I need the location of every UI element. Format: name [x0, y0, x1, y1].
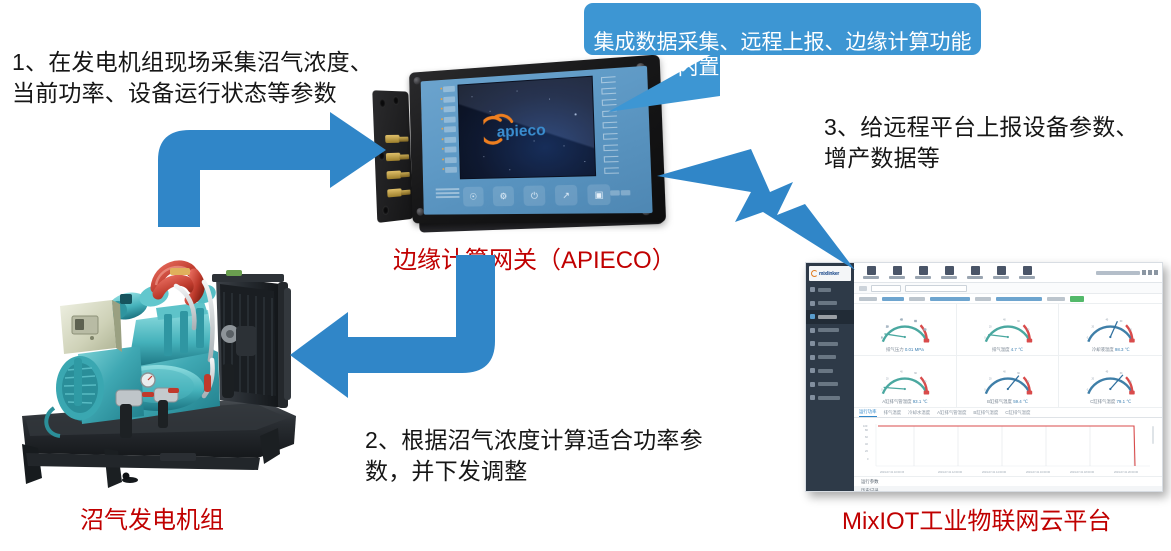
gauge-card[interactable]: 02040 6080100 排气温度 4.7 ℃: [957, 304, 1060, 356]
generator-label: 沼气发电机组: [80, 506, 224, 536]
dashboard-user-area[interactable]: [1096, 270, 1158, 275]
user-icon: [810, 368, 815, 373]
gateway-model-text: [436, 188, 460, 204]
gauge-caption: C缸排气温度 79.1 ℃: [1059, 399, 1162, 405]
sidebar-item-label: [818, 342, 838, 346]
svg-text:2019-07-31 12:00:00: 2019-07-31 12:00:00: [938, 470, 963, 474]
svg-text:2019-07-31 20:00:00: 2019-07-31 20:00:00: [1114, 470, 1139, 474]
run-power-line-chart[interactable]: 02040 6080100 2019-07-31 10:00:15 2019-0…: [854, 418, 1162, 476]
sidebar-item-users[interactable]: [806, 364, 854, 378]
touch-button-network[interactable]: ↗: [555, 185, 578, 206]
tab-cyl-a-temp[interactable]: A缸排气管温度: [937, 410, 966, 418]
table-title-params: 运行参数: [854, 477, 1162, 486]
sidebar-item-label: [818, 382, 838, 386]
dashboard-main: 02040 6080100 排气压力 0.01 MPa: [854, 263, 1162, 491]
svg-text:40: 40: [900, 372, 903, 374]
top-menu-alarmlog[interactable]: [988, 266, 1014, 280]
breadcrumb-root[interactable]: [859, 286, 867, 291]
svg-text:apieco: apieco: [497, 121, 546, 141]
gauge-caption: 排气压力 0.01 MPa: [854, 347, 956, 353]
svg-text:20: 20: [886, 327, 889, 329]
info-label-sn: [975, 297, 991, 301]
svg-text:60: 60: [914, 321, 917, 323]
svg-text:80: 80: [1026, 382, 1029, 384]
sidebar-item-label: [818, 328, 839, 332]
sidebar-item-analytics[interactable]: [806, 324, 854, 338]
group-icon: [810, 301, 815, 306]
svg-text:80: 80: [1130, 382, 1133, 384]
gauge-caption: B缸排气温度 59.4 ℃: [957, 399, 1059, 405]
sidebar-item-home[interactable]: [806, 283, 854, 297]
device-select[interactable]: [905, 285, 967, 292]
touch-button-aux-2[interactable]: [621, 190, 631, 195]
sidebar-item-maintain[interactable]: [806, 351, 854, 365]
info-value-sn: [996, 297, 1042, 301]
status-badge: [1070, 296, 1084, 302]
sidebar-item-groups[interactable]: [806, 297, 854, 311]
dashboard-sidebar: mixlinker: [806, 263, 854, 491]
gauge-card[interactable]: 02040 6080100 A缸排气管温度 93.1 ℃: [854, 356, 957, 408]
gateway-touch-buttons: ☉ ⚙ ⏻ ↗ ▣: [463, 184, 630, 209]
gauge-chart: 02040 6080100: [854, 356, 956, 400]
notification-icon[interactable]: [1142, 270, 1146, 275]
bell-icon: [810, 341, 815, 346]
svg-text:20: 20: [989, 327, 992, 329]
production-icon: [945, 266, 954, 275]
wrench-icon: [810, 355, 815, 360]
device-icon: [810, 314, 815, 319]
account-name: [1096, 271, 1140, 275]
gauge-caption: 排气温度 4.7 ℃: [957, 347, 1059, 353]
svg-text:40: 40: [1106, 372, 1109, 374]
svg-text:20: 20: [1092, 327, 1095, 329]
info-label-status: [1047, 297, 1065, 301]
arrow-field-to-gateway: [148, 112, 388, 227]
svg-text:80: 80: [1026, 330, 1029, 332]
gauge-chart: 02040 6080100: [1059, 304, 1162, 348]
gateway-led-indicators: [439, 86, 459, 180]
line-chart-svg: 02040 6080100 2019-07-31 10:00:15 2019-0…: [854, 418, 1162, 476]
svg-text:40: 40: [1106, 320, 1109, 322]
fullscreen-icon[interactable]: [1148, 270, 1152, 275]
chart-tab-bar: 运行功率 排气温度 冷却水温度 A缸排气管温度 B缸排气温度 C缸排气温度: [854, 408, 1162, 418]
tab-run-power[interactable]: 运行功率: [859, 409, 877, 418]
arrow-gateway-to-generator: [290, 255, 505, 400]
gauge-card[interactable]: 02040 6080100 排气压力 0.01 MPa: [854, 304, 957, 356]
svg-text:40: 40: [865, 442, 868, 446]
tab-coolant-temp[interactable]: 冷却水温度: [908, 410, 930, 418]
cloud-label: MixIOT工业物联网云平台: [842, 507, 1111, 537]
arrow-gateway-to-cloud: [655, 140, 905, 275]
svg-text:80: 80: [865, 428, 868, 432]
svg-text:60: 60: [865, 435, 868, 439]
top-menu-production[interactable]: [936, 266, 962, 280]
touch-button-power[interactable]: ⏻: [523, 185, 545, 205]
svg-text:20: 20: [865, 449, 868, 453]
antenna-connector: [387, 188, 410, 198]
svg-text:2019-07-31 16:00:00: 2019-07-31 16:00:00: [1026, 470, 1051, 474]
devicefile-icon: [1023, 266, 1032, 275]
svg-text:60: 60: [1120, 321, 1123, 323]
callout-bubble: 集成数据采集、远程上报、边缘计算功能 内置发电优化软件算法: [584, 3, 981, 55]
gateway-display-screen[interactable]: apieco: [457, 76, 596, 180]
diagram-canvas: 1、在发电机组现场采集沼气浓度、 当前功率、设备运行状态等参数 3、给远程平台上…: [0, 0, 1171, 551]
info-label-name: [859, 297, 877, 301]
svg-text:60: 60: [1017, 321, 1020, 323]
sidebar-item-label: [818, 355, 836, 359]
svg-text:20: 20: [1092, 379, 1095, 381]
gauge-chart: 02040 6080100: [854, 304, 956, 348]
chart-icon: [810, 328, 815, 333]
biogas-generator-set: [8, 248, 298, 493]
history-icon: [971, 266, 980, 275]
apieco-logo: apieco: [483, 110, 567, 148]
svg-text:2019-07-31 14:00:00: 2019-07-31 14:00:00: [982, 470, 1007, 474]
svg-text:20: 20: [989, 379, 992, 381]
svg-text:100: 100: [863, 424, 868, 428]
tab-exhaust-temp[interactable]: 排气温度: [884, 410, 902, 418]
svg-text:2019-07-31 18:00:00: 2019-07-31 18:00:00: [1070, 470, 1095, 474]
sidebar-item-label: [818, 396, 840, 400]
generator-control-box: [60, 300, 122, 354]
svg-text:80: 80: [924, 382, 927, 384]
breadcrumb: [854, 283, 1162, 294]
sidebar-item-label: [818, 288, 831, 292]
svg-text:40: 40: [1003, 372, 1006, 374]
gauge-caption: 冷却液温度 98.3 ℃: [1059, 347, 1162, 353]
mixiot-cloud-dashboard[interactable]: mixlinker: [805, 262, 1163, 492]
parameter-table: 运行参数 历史记录 发电功率:13.6 kW 发电量:1.2 度 冷却液温度:9…: [854, 476, 1162, 492]
gauge-chart: 02040 6080100: [957, 304, 1059, 348]
gauge-caption: A缸排气管温度 93.1 ℃: [854, 399, 956, 405]
runreport-icon: [919, 266, 928, 275]
svg-text:0: 0: [867, 457, 869, 461]
sidebar-item-label: [818, 301, 837, 305]
report-icon: [810, 395, 815, 400]
touch-button-storage[interactable]: ▣: [587, 184, 611, 205]
top-menu-runreport[interactable]: [910, 266, 936, 280]
table-title-history: 历史记录: [854, 486, 1162, 492]
exhaust-clamp: [170, 268, 190, 275]
svg-text:60: 60: [1017, 373, 1020, 375]
sidebar-item-devices[interactable]: [806, 310, 854, 324]
group-select[interactable]: [871, 285, 901, 292]
home-icon: [810, 287, 815, 292]
svg-text:40: 40: [900, 320, 903, 322]
step-2-text: 2、根据沼气浓度计算适合功率参 数，并下发调整: [365, 425, 745, 487]
touch-button-brightness[interactable]: ☉: [463, 187, 484, 207]
gauge-card[interactable]: 02040 6080100 冷却液温度 98.3 ℃: [1059, 304, 1162, 356]
antenna-connector: [385, 135, 408, 143]
top-menu-history[interactable]: [962, 266, 988, 280]
svg-text:80: 80: [1130, 330, 1133, 332]
svg-text:60: 60: [914, 373, 917, 375]
info-label-model: [909, 297, 925, 301]
top-menu-devicefile[interactable]: [1014, 266, 1040, 280]
gauge-chart: 02040 6080100: [1059, 356, 1162, 400]
svg-text:40: 40: [1003, 320, 1006, 322]
svg-text:80: 80: [924, 330, 927, 332]
gauge-card[interactable]: 02040 6080100 B缸排气温度 59.4 ℃: [957, 356, 1060, 408]
tab-cyl-b-temp[interactable]: B缸排气温度: [973, 410, 998, 418]
gauge-card[interactable]: 02040 6080100 C缸排气温度 79.1 ℃: [1059, 356, 1162, 408]
sidebar-item-alarms[interactable]: [806, 337, 854, 351]
step-1-text: 1、在发电机组现场采集沼气浓度、 当前功率、设备运行状态等参数: [12, 47, 404, 109]
device-info-line: [854, 294, 1162, 304]
info-value-name: [882, 297, 904, 301]
svg-text:2019-07-31 10:00:15: 2019-07-31 10:00:15: [880, 470, 905, 474]
antenna-connector: [386, 152, 409, 161]
sidebar-item-settings[interactable]: [806, 378, 854, 392]
tab-cyl-c-temp[interactable]: C缸排气温度: [1005, 410, 1030, 418]
touch-button-settings[interactable]: ⚙: [493, 186, 515, 206]
sidebar-item-label: [818, 369, 833, 373]
antenna-connector: [387, 170, 410, 179]
alarmlog-icon: [997, 266, 1006, 275]
gauge-chart: 02040 6080100: [957, 356, 1059, 400]
gear-icon: [810, 382, 815, 387]
gauge-panel: 02040 6080100 排气压力 0.01 MPa: [854, 304, 1162, 408]
info-value-model: [930, 297, 970, 301]
svg-text:20: 20: [886, 379, 889, 381]
touch-button-aux-1[interactable]: [610, 190, 620, 195]
logout-icon[interactable]: [1154, 270, 1158, 275]
sidebar-item-reports[interactable]: [806, 391, 854, 405]
sidebar-item-label: [818, 315, 837, 319]
